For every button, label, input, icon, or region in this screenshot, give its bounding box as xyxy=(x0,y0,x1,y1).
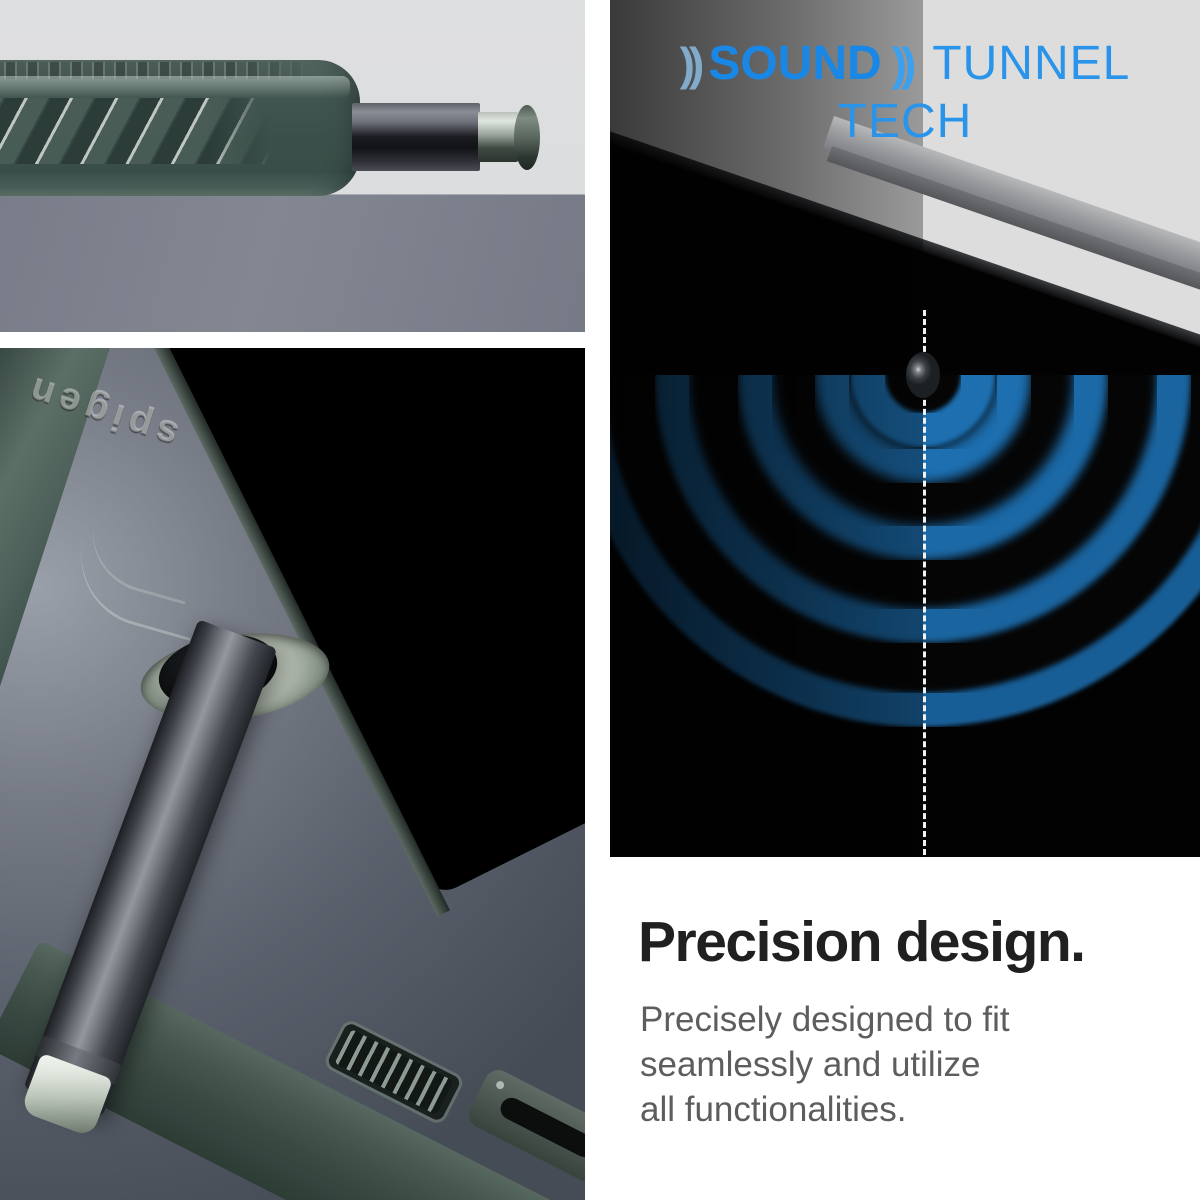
panel-sound-tunnel: )) SOUND )) TUNNEL TECH xyxy=(610,0,1200,857)
spen-collar xyxy=(478,112,518,162)
panel-marketing-copy: Precision design. Precisely designed to … xyxy=(610,857,1200,1200)
marketing-image-canvas: spigen xyxy=(0,0,1200,1200)
sound-wave-right-icon: )) xyxy=(892,41,911,87)
phone-case-edge xyxy=(0,60,360,196)
sound-tunnel-heading: )) SOUND )) TUNNEL TECH xyxy=(610,0,1200,175)
spen-barrel xyxy=(352,103,480,171)
speaker-emitter-dot xyxy=(906,352,940,398)
copy-body-line-1: Precisely designed to fit xyxy=(640,997,1010,1042)
heading-tunnel-word: TUNNEL xyxy=(932,40,1130,88)
usb-c-port-opening xyxy=(497,1094,585,1161)
case-top-highlight xyxy=(0,76,350,98)
copy-body-line-3: all functionalities. xyxy=(640,1087,1010,1132)
case-diagonal-hatch-texture xyxy=(0,98,270,164)
copy-body: Precisely designed to fit seamlessly and… xyxy=(640,997,1010,1132)
spen-end-cap xyxy=(514,105,540,170)
panel-case-edge-spen xyxy=(0,0,585,332)
panel-spen-insert: spigen xyxy=(0,348,585,1200)
heading-line-1: )) SOUND )) TUNNEL xyxy=(680,40,1131,88)
microphone-hole xyxy=(495,1080,506,1091)
heading-tech-word: TECH xyxy=(838,94,973,149)
sound-wave-left-icon: )) xyxy=(680,41,699,87)
copy-heading: Precision design. xyxy=(638,909,1084,975)
copy-body-line-2: seamlessly and utilize xyxy=(640,1042,1010,1087)
heading-sound-word: SOUND xyxy=(708,40,881,88)
backdrop-lower-gray xyxy=(0,195,585,332)
